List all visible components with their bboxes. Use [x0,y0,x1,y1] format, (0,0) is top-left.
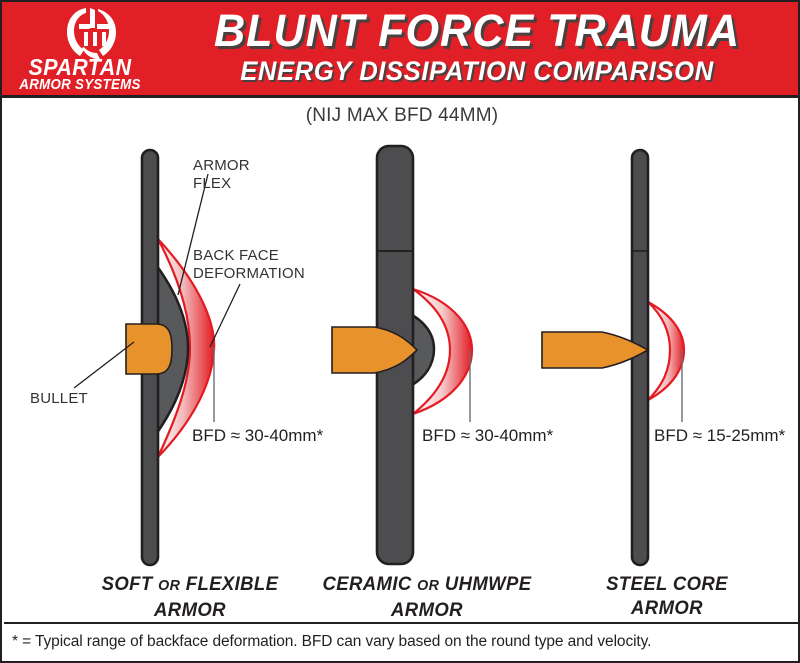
infographic-page: SPARTAN ARMOR SYSTEMS BLUNT FORCE TRAUMA… [0,0,800,663]
footnote-divider [4,622,800,624]
bfd-value-steel: BFD ≈ 15-25mm* [654,426,785,446]
caption-steel-line2: ARMOR [553,596,781,620]
panel-soft-flexible-armor [74,150,240,565]
annotation-armor-flex-line2: FLEX [193,175,303,193]
caption-ceramic-uhmwpe-armor: CERAMIC OR UHMWPE ARMOR [294,572,560,622]
caption-ceramic-a: CERAMIC [323,573,412,595]
comparison-diagram [2,2,800,663]
bfd-value-soft: BFD ≈ 30-40mm* [192,426,323,446]
caption-soft-flexible-armor: SOFT OR FLEXIBLE ARMOR [67,572,314,622]
annotation-back-face-deformation: BACK FACE DEFORMATION [193,247,313,283]
caption-soft-line2: ARMOR [67,598,314,622]
leader-bullet [74,342,134,388]
annotation-bullet: BULLET [30,390,130,408]
panel-ceramic-uhmwpe-armor [332,146,472,564]
footnote-text: * = Typical range of backface deformatio… [12,632,792,652]
caption-steel-a: STEEL [606,573,667,595]
annotation-back-face-line2: DEFORMATION [193,265,313,283]
panel-steel-core-armor [542,150,684,565]
bullet-shape-1 [126,324,172,374]
annotation-armor-flex-line1: ARMOR [193,157,303,175]
caption-ceramic-b: UHMWPE [445,573,532,595]
caption-soft-a: SOFT [102,573,153,595]
annotation-back-face-line1: BACK FACE [193,247,313,265]
caption-steel-b: CORE [673,573,728,595]
caption-steel-core-armor: STEEL CORE ARMOR [553,572,781,620]
caption-ceramic-line2: ARMOR [294,598,560,622]
back-face-deformation-shape-3 [648,302,684,400]
leader-back-face [210,284,240,347]
annotation-armor-flex: ARMOR FLEX [193,157,303,193]
caption-soft-or: OR [158,577,180,594]
caption-soft-b: FLEXIBLE [186,573,279,595]
bfd-value-ceramic: BFD ≈ 30-40mm* [422,426,553,446]
caption-ceramic-or: OR [417,577,439,594]
